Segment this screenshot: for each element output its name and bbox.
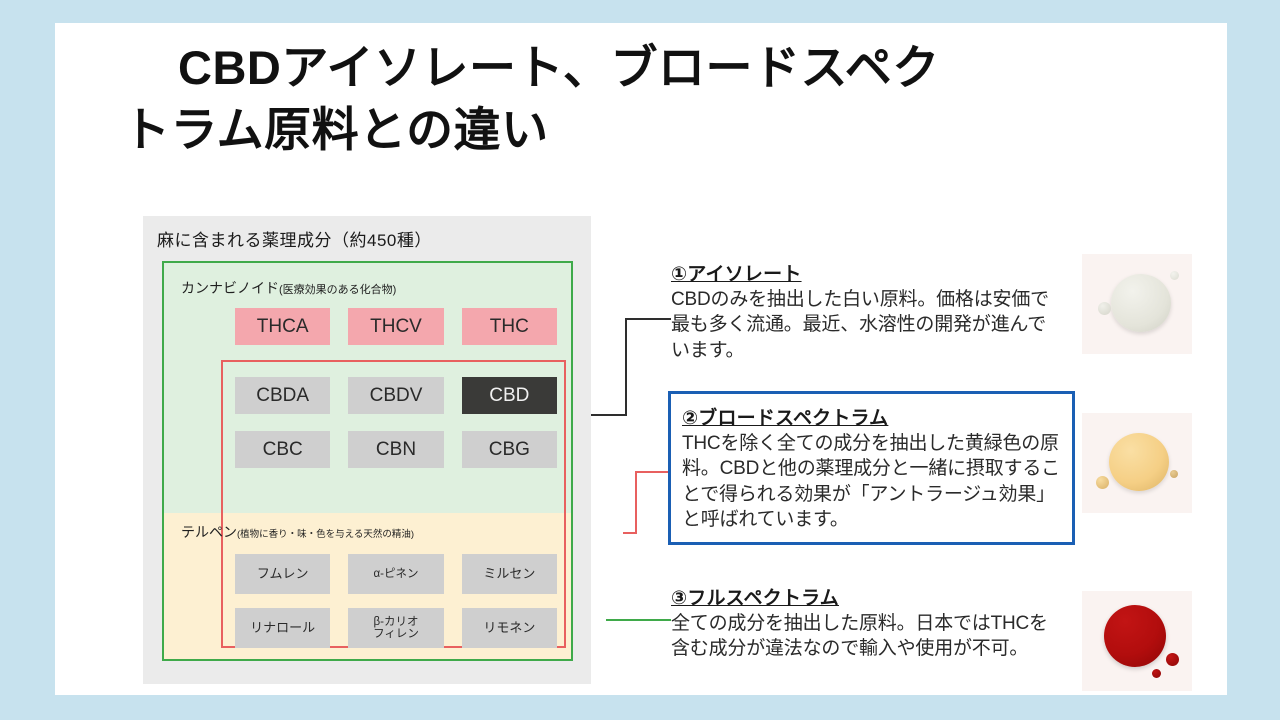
chip-cbd-highlighted[interactable]: CBD bbox=[462, 377, 557, 414]
connector-full-spectrum bbox=[606, 619, 671, 621]
chip-thca[interactable]: THCA bbox=[235, 308, 330, 345]
slide-card: CBDアイソレート、ブロードスペク トラム原料との違い 麻に含まれる薬理成分（約… bbox=[55, 23, 1227, 695]
chip-thcv[interactable]: THCV bbox=[348, 308, 443, 345]
white-clear-oil-droplet-tiny-icon bbox=[1170, 271, 1179, 280]
deep-red-oil-droplet-icon bbox=[1104, 605, 1166, 667]
golden-amber-oil-droplet-icon bbox=[1109, 433, 1169, 491]
swatch-broad-spectrum-golden-oil bbox=[1082, 413, 1192, 513]
chip-cbg[interactable]: CBG bbox=[462, 431, 557, 468]
section-isolate-title: ①アイソレート bbox=[671, 259, 802, 286]
section-broad-spectrum-title: ②ブロードスペクトラム bbox=[682, 403, 888, 430]
chip-humulene[interactable]: フムレン bbox=[235, 554, 330, 594]
swatch-isolate-white-oil bbox=[1082, 254, 1192, 354]
terpene-label: テルペン(植物に香り・味・色を与える天然の精油) bbox=[181, 522, 414, 542]
deep-red-oil-droplet-tiny-icon bbox=[1152, 669, 1161, 678]
diagram-heading: 麻に含まれる薬理成分（約450種） bbox=[157, 226, 432, 251]
chip-cbc[interactable]: CBC bbox=[235, 431, 330, 468]
cannabinoid-label-main: カンナビノイド bbox=[181, 280, 279, 296]
terpene-chip-row-2: リナロール β-カリオ フィレン リモネン bbox=[235, 608, 557, 648]
cbd-chip-row-2: CBC CBN CBG bbox=[235, 431, 557, 468]
cannabinoid-label: カンナビノイド(医療効果のある化合物) bbox=[181, 278, 396, 298]
chip-cbn[interactable]: CBN bbox=[348, 431, 443, 468]
page-title: CBDアイソレート、ブロードスペク トラム原料との違い bbox=[123, 37, 1163, 161]
chip-limonene[interactable]: リモネン bbox=[462, 608, 557, 648]
chip-thc[interactable]: THC bbox=[462, 308, 557, 345]
terpene-label-sub: (植物に香り・味・色を与える天然の精油) bbox=[237, 529, 414, 540]
swatch-full-spectrum-red-oil bbox=[1082, 591, 1192, 691]
section-broad-spectrum: ②ブロードスペクトラム THCを除く全ての成分を抽出した黄緑色の原料。CBDと他… bbox=[668, 391, 1075, 545]
section-isolate: ①アイソレート CBDのみを抽出した白い原料。価格は安価で最も多く流通。最近、水… bbox=[671, 259, 1063, 363]
chip-alpha-pinene[interactable]: α-ピネン bbox=[348, 554, 443, 594]
chip-beta-caryophyllene-line-2: フィレン bbox=[373, 628, 419, 640]
page-title-line-2: トラム原料との違い bbox=[123, 99, 1163, 161]
thc-chip-row: THCA THCV THC bbox=[235, 308, 557, 345]
page-title-line-1: CBDアイソレート、ブロードスペク bbox=[123, 37, 1163, 99]
chip-cbdv[interactable]: CBDV bbox=[348, 377, 443, 414]
cannabinoid-label-sub: (医療効果のある化合物) bbox=[279, 284, 396, 296]
connector-isolate-segment-1 bbox=[591, 414, 627, 416]
chip-cbda[interactable]: CBDA bbox=[235, 377, 330, 414]
connector-broad-spectrum-segment-2 bbox=[635, 472, 637, 534]
section-full-spectrum-body: 全ての成分を抽出した原料。日本ではTHCを含む成分が違法なので輸入や使用が不可。 bbox=[671, 611, 1063, 662]
white-clear-oil-droplet-small-icon bbox=[1098, 302, 1111, 315]
section-full-spectrum-title: ③フルスペクトラム bbox=[671, 583, 839, 610]
white-clear-oil-droplet-icon bbox=[1111, 274, 1171, 332]
chip-beta-caryophyllene[interactable]: β-カリオ フィレン bbox=[348, 608, 443, 648]
terpene-chip-row-1: フムレン α-ピネン ミルセン bbox=[235, 554, 557, 594]
connector-broad-spectrum-segment-3 bbox=[635, 471, 671, 473]
connector-isolate-segment-2 bbox=[625, 319, 627, 416]
deep-red-oil-droplet-small-icon bbox=[1166, 653, 1179, 666]
chip-myrcene[interactable]: ミルセン bbox=[462, 554, 557, 594]
chip-beta-caryophyllene-line-1: β-カリオ bbox=[374, 616, 419, 628]
section-full-spectrum: ③フルスペクトラム 全ての成分を抽出した原料。日本ではTHCを含む成分が違法なの… bbox=[671, 583, 1063, 662]
terpene-label-main: テルペン bbox=[181, 524, 237, 540]
connector-isolate-segment-3 bbox=[625, 318, 671, 320]
section-isolate-body: CBDのみを抽出した白い原料。価格は安価で最も多く流通。最近、水溶性の開発が進ん… bbox=[671, 287, 1063, 363]
cannabis-components-diagram: 麻に含まれる薬理成分（約450種） カンナビノイド(医療効果のある化合物) TH… bbox=[143, 216, 591, 684]
section-broad-spectrum-body: THCを除く全ての成分を抽出した黄緑色の原料。CBDと他の薬理成分と一緒に摂取す… bbox=[682, 431, 1061, 532]
golden-amber-oil-droplet-tiny-icon bbox=[1170, 470, 1178, 478]
chip-linalool[interactable]: リナロール bbox=[235, 608, 330, 648]
golden-amber-oil-droplet-small-icon bbox=[1096, 476, 1109, 489]
cbd-chip-row-1: CBDA CBDV CBD bbox=[235, 377, 557, 414]
